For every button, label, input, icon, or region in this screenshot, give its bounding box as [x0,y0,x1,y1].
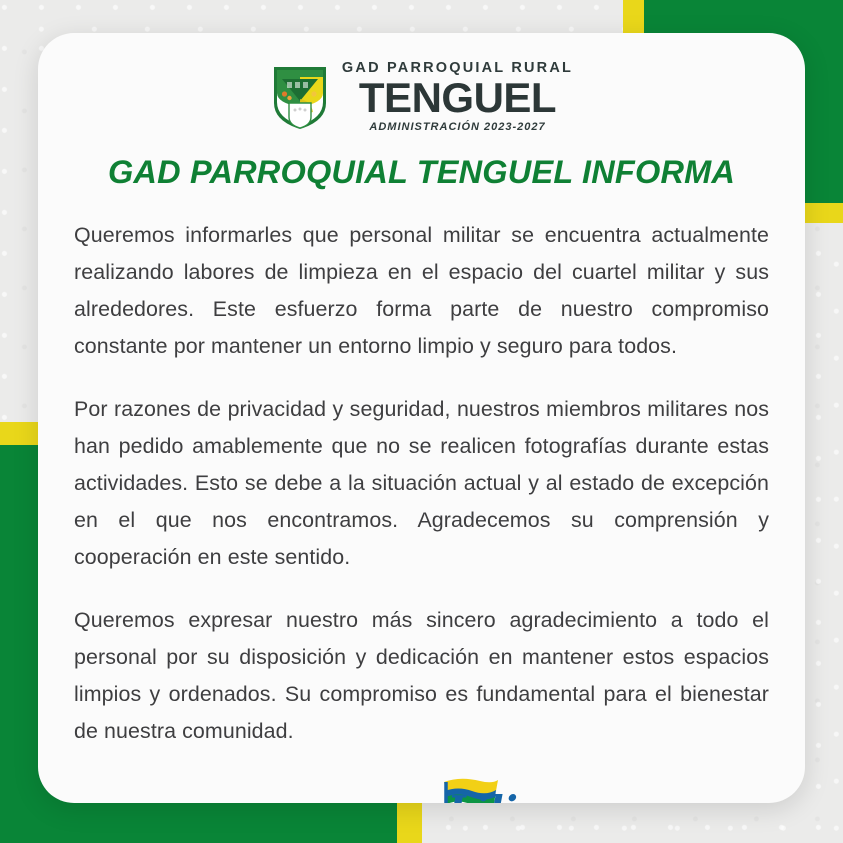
page-title: GAD PARROQUIAL TENGUEL INFORMA [71,154,772,191]
body-paragraph: Por razones de privacidad y seguridad, n… [74,391,769,576]
header-logo-line-3: ADMINISTRACIÓN 2023-2027 [369,122,545,133]
announcement-body: Queremos informarles que personal milita… [71,217,772,750]
header-logo-line-2: TENGUEL [359,77,556,119]
footer-logos: TENGUEL ¡¡juntos por el desarrollo! Lili… [71,778,772,803]
tenguel-shield-emblem [270,63,330,131]
header-logo: GAD PARROQUIAL RURAL TENGUEL ADMINISTRAC… [71,33,772,136]
announcement-card: GAD PARROQUIAL RURAL TENGUEL ADMINISTRAC… [38,33,805,803]
tenguel-footer-logo: TENGUEL ¡¡juntos por el desarrollo! [232,794,408,803]
body-paragraph: Queremos expresar nuestro más sincero ag… [74,602,769,750]
body-paragraph: Queremos informarles que personal milita… [74,217,769,365]
liliana-first-name: Liliana [448,792,624,803]
tenguel-logo-wordmark: TENGUEL [232,794,408,803]
header-logo-text: GAD PARROQUIAL RURAL TENGUEL ADMINISTRAC… [342,61,573,133]
liliana-simbala-logo: Liliana Símbala PRESIDENTA DE LA PARROQU… [436,778,612,803]
